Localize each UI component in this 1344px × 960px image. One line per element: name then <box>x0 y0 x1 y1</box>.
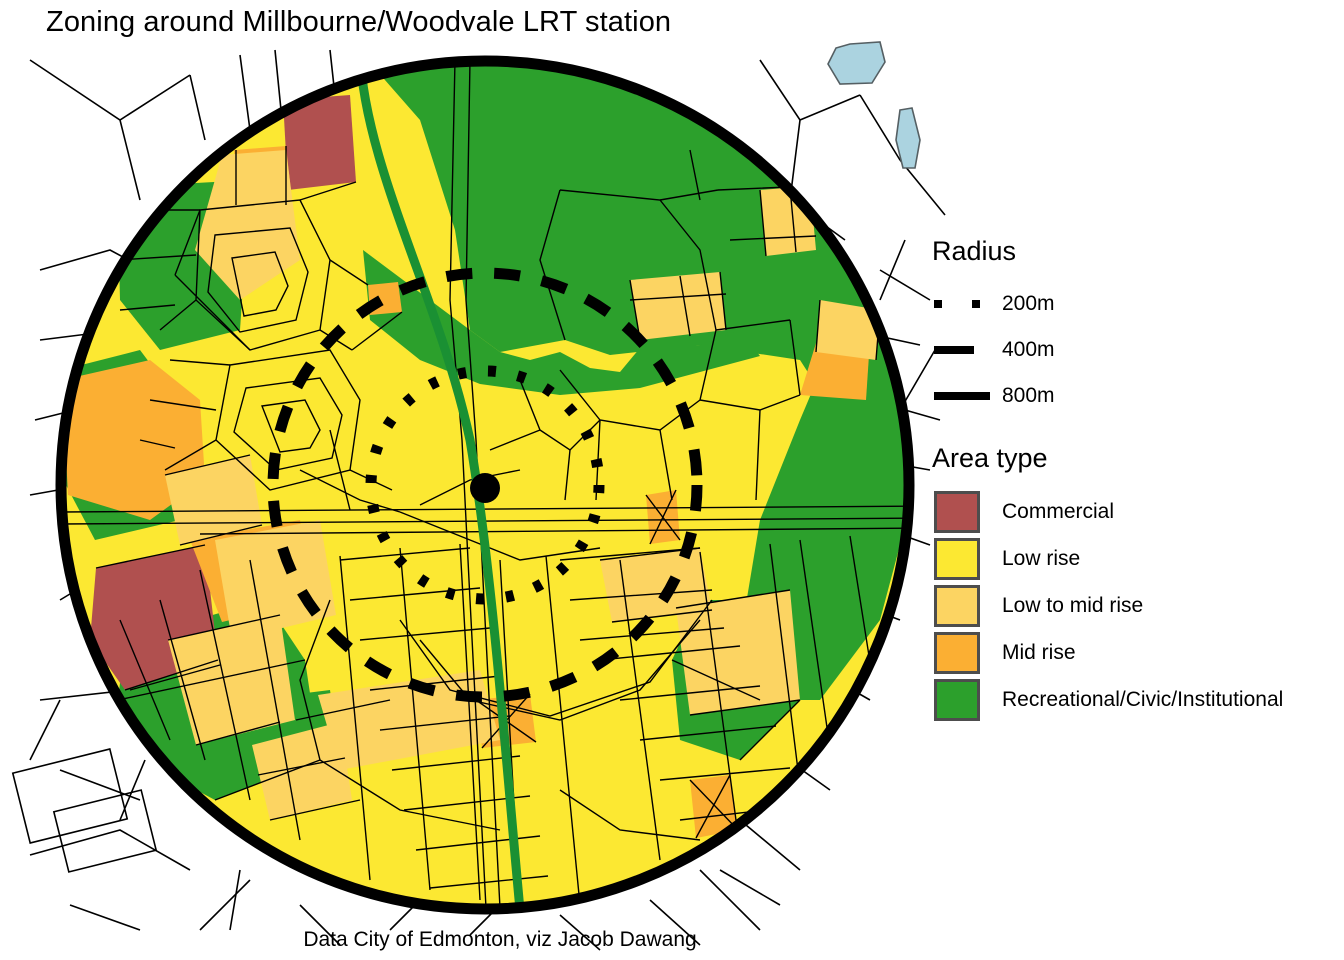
legend-item-400m[interactable]: 400m <box>930 327 1344 373</box>
legend-area-type: Area type Commercial Low rise Low to mid… <box>930 445 1344 723</box>
legend-item-low-rise[interactable]: Low rise <box>930 535 1344 582</box>
dotted-line-key <box>930 300 998 308</box>
map-canvas[interactable] <box>0 0 960 960</box>
legend-item-commercial[interactable]: Commercial <box>930 488 1344 535</box>
legend-item-low-rise-label: Low rise <box>1002 547 1080 571</box>
legend-item-low-to-mid-rise-label: Low to mid rise <box>1002 594 1143 618</box>
caption-text: Data City of Edmonton, viz Jacob Dawang <box>303 928 696 951</box>
legend-item-mid-rise[interactable]: Mid rise <box>930 629 1344 676</box>
color-swatch-low-rise <box>934 538 980 580</box>
swatch-key <box>930 632 998 674</box>
station-point[interactable] <box>470 473 500 503</box>
solid-line-key <box>930 392 998 400</box>
water-bodies <box>828 42 920 168</box>
dashed-line-key <box>930 346 998 354</box>
water-body-north <box>828 42 885 84</box>
legend-item-400m-label: 400m <box>1002 338 1055 362</box>
legend-item-200m[interactable]: 200m <box>930 281 1344 327</box>
legend-area-type-title: Area type <box>932 445 1344 472</box>
legend-item-low-to-mid-rise[interactable]: Low to mid rise <box>930 582 1344 629</box>
swatch-key <box>930 679 998 721</box>
legend-panel: Radius 200m 400m <box>930 238 1344 723</box>
legend-item-800m[interactable]: 800m <box>930 373 1344 419</box>
zoning-map-figure: Zoning around Millbourne/Woodvale LRT st… <box>0 0 1344 960</box>
legend-item-recreational[interactable]: Recreational/Civic/Institutional <box>930 676 1344 723</box>
color-swatch-recreational <box>934 679 980 721</box>
swatch-key <box>930 538 998 580</box>
legend-item-800m-label: 800m <box>1002 384 1055 408</box>
legend-item-commercial-label: Commercial <box>1002 500 1114 524</box>
legend-item-200m-label: 200m <box>1002 292 1055 316</box>
swatch-key <box>930 491 998 533</box>
color-swatch-low-to-mid-rise <box>934 585 980 627</box>
figure-caption: Data City of Edmonton, viz Jacob Dawang <box>0 928 1344 952</box>
color-swatch-mid-rise <box>934 632 980 674</box>
swatch-key <box>930 585 998 627</box>
legend-radius: Radius 200m 400m <box>930 238 1344 419</box>
legend-item-recreational-label: Recreational/Civic/Institutional <box>1002 688 1283 712</box>
color-swatch-commercial <box>934 491 980 533</box>
legend-item-mid-rise-label: Mid rise <box>1002 641 1076 665</box>
legend-radius-title: Radius <box>932 238 1344 265</box>
